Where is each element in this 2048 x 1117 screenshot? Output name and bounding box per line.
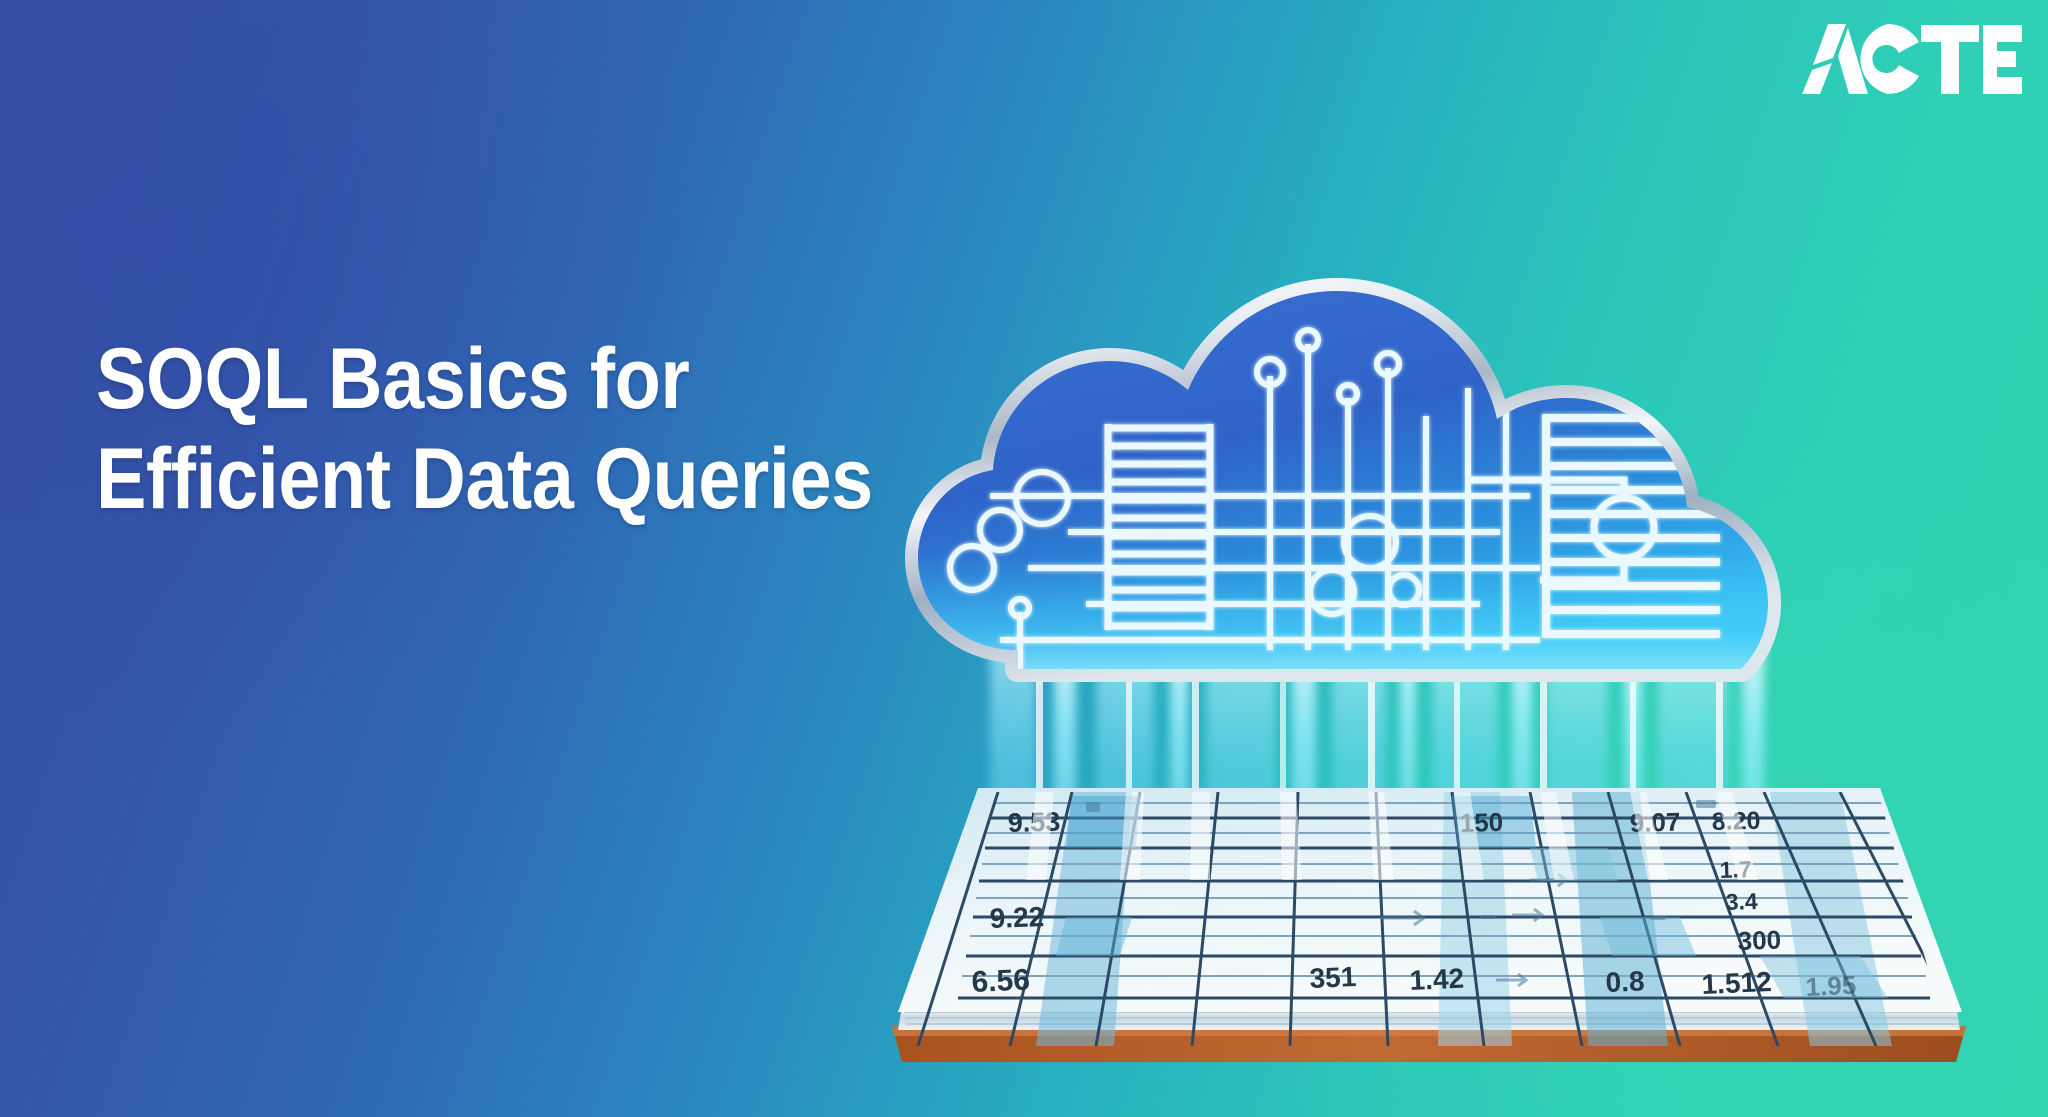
ledger-cell-value: 1.42 — [1409, 963, 1465, 996]
cloud-graphic — [900, 291, 1800, 690]
ledger-cell-value: 1.512 — [1701, 966, 1772, 1000]
ledger-cell-value: 0.8 — [1605, 965, 1645, 998]
title-line-2: Efficient Data Queries — [96, 430, 870, 530]
ledger-cell-value: 6.56 — [971, 963, 1031, 999]
ledger-cell-value: 9.22 — [989, 901, 1045, 934]
title-line-1: SOQL Basics for — [96, 330, 870, 430]
ledger-cell-value: 351 — [1309, 961, 1357, 994]
acte-logo-glyphs — [1802, 24, 2022, 94]
ledger-grid-area — [918, 792, 1970, 1046]
hero-illustration: 9.53 150 9.07 8.20 1.7 3.4 9.22 300 6.56… — [840, 180, 2040, 1040]
ledger-spreadsheet: 9.53 150 9.07 8.20 1.7 3.4 9.22 300 6.56… — [892, 788, 1970, 1062]
ledger-cell-value: 300 — [1737, 925, 1781, 956]
ledger-cell-value: 3.4 — [1725, 888, 1758, 915]
banner-root: SOQL Basics for Efficient Data Queries — [0, 0, 2048, 1117]
acte-logo[interactable] — [1802, 18, 2022, 100]
ledger-cell-value: 1.95 — [1805, 970, 1857, 1002]
